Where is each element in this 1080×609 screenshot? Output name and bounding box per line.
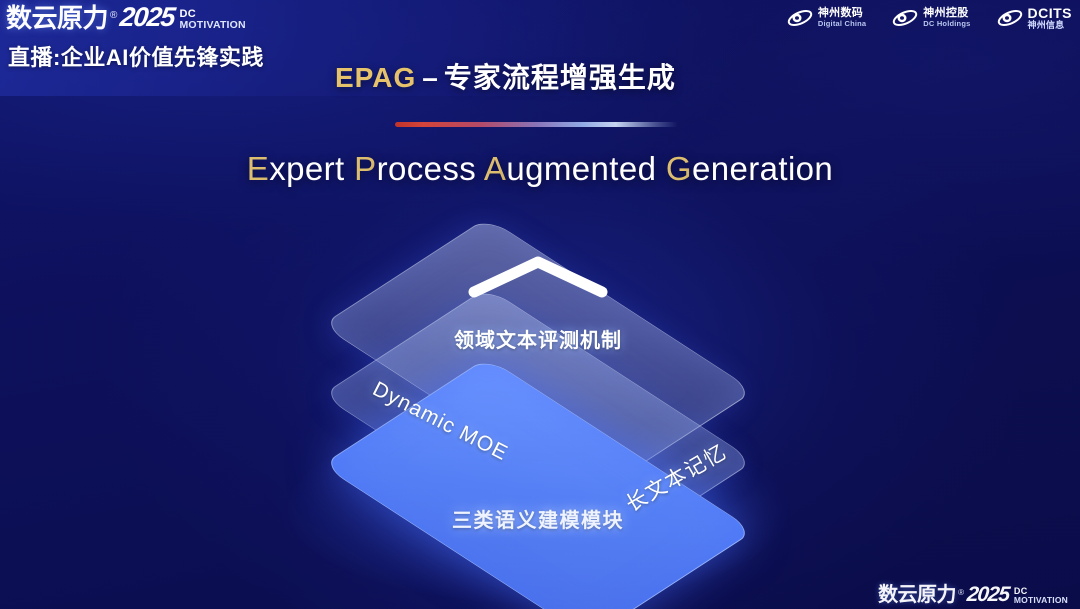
brand-name-cn: 数云原力 <box>6 5 108 31</box>
page-title: EPAG–专家流程增强生成 <box>335 56 676 96</box>
slide-canvas: 数云原力 ® 2025 DC MOTIVATION 直播:企业AI价值先锋实践 … <box>0 0 1080 609</box>
watermark-name-cn: 数云原力 <box>878 585 956 605</box>
partner-label: 神州控股 DC Holdings <box>923 8 970 28</box>
brand-logo: 数云原力 ® 2025 DC MOTIVATION <box>6 4 264 31</box>
live-stream-subtitle: 直播:企业AI价值先锋实践 <box>8 40 264 72</box>
brand-block: 数云原力 ® 2025 DC MOTIVATION 直播:企业AI价值先锋实践 <box>6 4 264 72</box>
swoosh-icon <box>997 7 1023 29</box>
watermark-year: 2025 <box>966 584 1010 605</box>
watermark-registered-mark: ® <box>958 589 964 597</box>
layered-diagram: 领域文本评测机制 Dynamic MOE 长文本记忆 三类语义建模模块 <box>278 218 798 583</box>
gradient-divider <box>395 122 678 127</box>
title-chinese: 专家流程增强生成 <box>444 62 676 93</box>
brand-motivation-text: MOTIVATION <box>179 20 245 31</box>
partner-logo-dc-holdings: 神州控股 DC Holdings <box>892 7 970 29</box>
partner-label: 神州数码 Digital China <box>818 8 866 28</box>
layer-label-bottom: 三类语义建模模块 <box>452 504 624 533</box>
partner-name-cn: 神州信息 <box>1028 21 1073 31</box>
swoosh-icon <box>787 7 813 29</box>
partner-name-en: DC Holdings <box>923 20 970 28</box>
subtitle-initial-g: G <box>666 150 692 187</box>
partner-label: DCITS 神州信息 <box>1028 6 1073 31</box>
subtitle-english: Expert Process Augmented Generation <box>0 150 1080 188</box>
title-dash: – <box>422 62 438 93</box>
title-acronym: EPAG <box>335 62 416 93</box>
subtitle-initial-a: A <box>484 150 506 187</box>
swoosh-icon <box>892 7 918 29</box>
subtitle-initial-p: P <box>354 150 376 187</box>
partner-logo-digital-china: 神州数码 Digital China <box>787 7 866 29</box>
watermark-logo: 数云原力 ® 2025 DC MOTIVATION <box>878 584 1068 605</box>
registered-mark: ® <box>110 11 117 21</box>
partner-name-en: Digital China <box>818 20 866 28</box>
subtitle-initial-e: E <box>247 150 269 187</box>
partner-name-en: DCITS <box>1028 6 1073 21</box>
subtitle-word-generation: eneration <box>692 150 833 187</box>
brand-dc-text: DC <box>179 9 245 20</box>
brand-year: 2025 <box>119 4 176 31</box>
partner-logo-dcits: DCITS 神州信息 <box>997 6 1073 31</box>
brand-dc-motivation: DC MOTIVATION <box>179 9 245 32</box>
partner-logos: 神州数码 Digital China 神州控股 DC Holdings <box>787 6 1072 31</box>
subtitle-word-augmented: ugmented <box>506 150 666 187</box>
watermark-motivation-text: MOTIVATION <box>1014 596 1068 605</box>
subtitle-word-expert: xpert <box>269 150 354 187</box>
layer-label-top: 领域文本评测机制 <box>454 324 622 353</box>
subtitle-word-process: rocess <box>377 150 484 187</box>
watermark-dc-motivation: DC MOTIVATION <box>1014 587 1068 606</box>
